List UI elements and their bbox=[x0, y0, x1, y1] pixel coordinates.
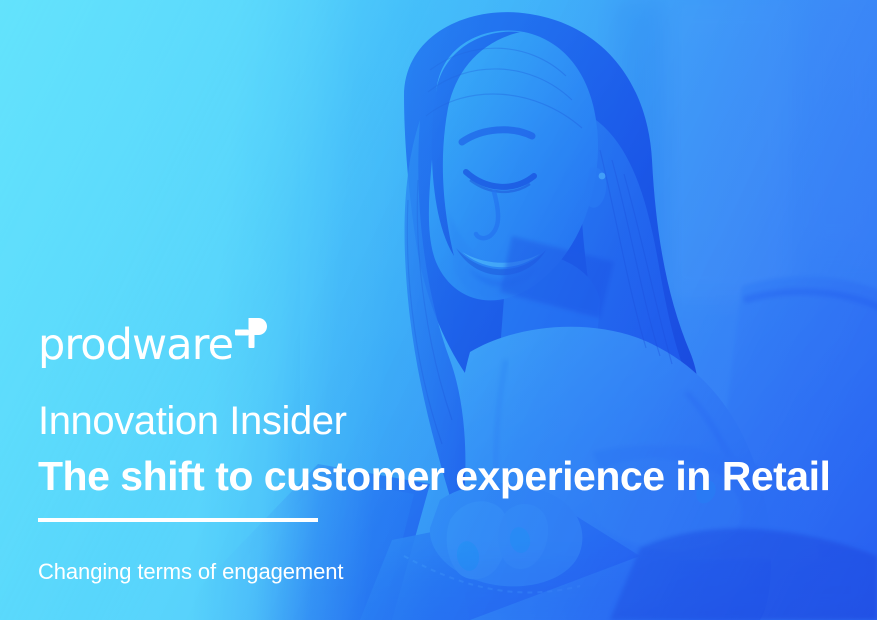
prodware-p-plus-logomark bbox=[231, 318, 267, 363]
page-title-line-1: Innovation Insider bbox=[38, 398, 347, 444]
cover-tagline: Changing terms of engagement bbox=[38, 558, 343, 586]
title-divider bbox=[38, 518, 318, 522]
cover-content: prodware Innovation Insider The shift to… bbox=[38, 0, 858, 620]
prodware-logo: prodware bbox=[38, 318, 267, 363]
page-title-line-2: The shift to customer experience in Reta… bbox=[38, 452, 830, 500]
prodware-wordmark: prodware bbox=[38, 324, 233, 367]
cover-page: prodware Innovation Insider The shift to… bbox=[0, 0, 877, 620]
